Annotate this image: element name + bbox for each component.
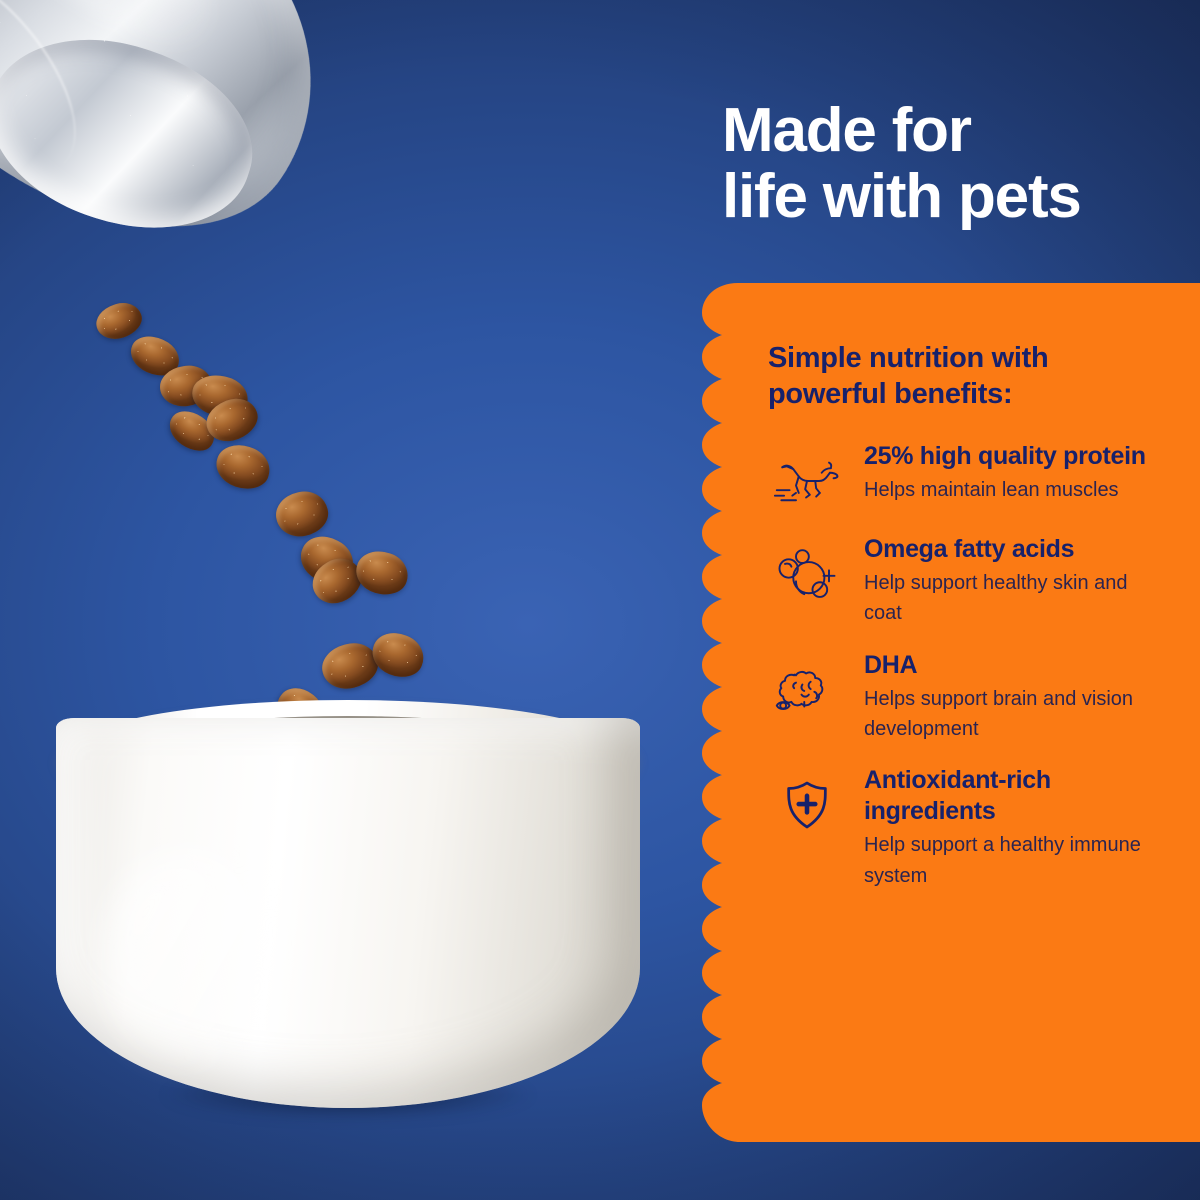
shield-plus-icon — [768, 763, 846, 837]
page-title: Made for life with pets — [722, 98, 1192, 229]
benefit-title: DHA — [864, 650, 1160, 681]
benefit-item-omega: Omega fatty acids Help support healthy s… — [768, 532, 1160, 629]
running-dog-icon — [768, 439, 846, 513]
benefits-panel: Simple nutrition with powerful benefits: — [694, 283, 1200, 1142]
benefits-panel-title: Simple nutrition with powerful benefits: — [768, 341, 1160, 413]
dog-food-bowl — [48, 700, 648, 1130]
benefit-title: Antioxidant-rich ingredients — [864, 765, 1160, 827]
headline-line-2: life with pets — [722, 164, 1192, 230]
benefit-description: Helps maintain lean muscles — [864, 475, 1160, 505]
benefit-description: Help support healthy skin and coat — [864, 568, 1160, 629]
brain-eye-icon — [768, 648, 846, 722]
bowl-gloss — [104, 850, 284, 1060]
benefit-title: 25% high quality protein — [864, 441, 1160, 472]
headline-line-1: Made for — [722, 96, 971, 165]
benefit-description: Helps support brain and vision developme… — [864, 684, 1160, 745]
benefit-item-dha: DHA Helps support brain and vision devel… — [768, 648, 1160, 745]
benefit-description: Help support a healthy immune system — [864, 830, 1160, 891]
omega-bubbles-icon — [768, 532, 846, 606]
benefit-title: Omega fatty acids — [864, 534, 1160, 565]
product-hero-image: Made for life with pets Simple nutrition… — [0, 0, 1200, 1200]
benefit-item-protein: 25% high quality protein Helps maintain … — [768, 439, 1160, 513]
benefit-item-antioxidant: Antioxidant-rich ingredients Help suppor… — [768, 763, 1160, 891]
